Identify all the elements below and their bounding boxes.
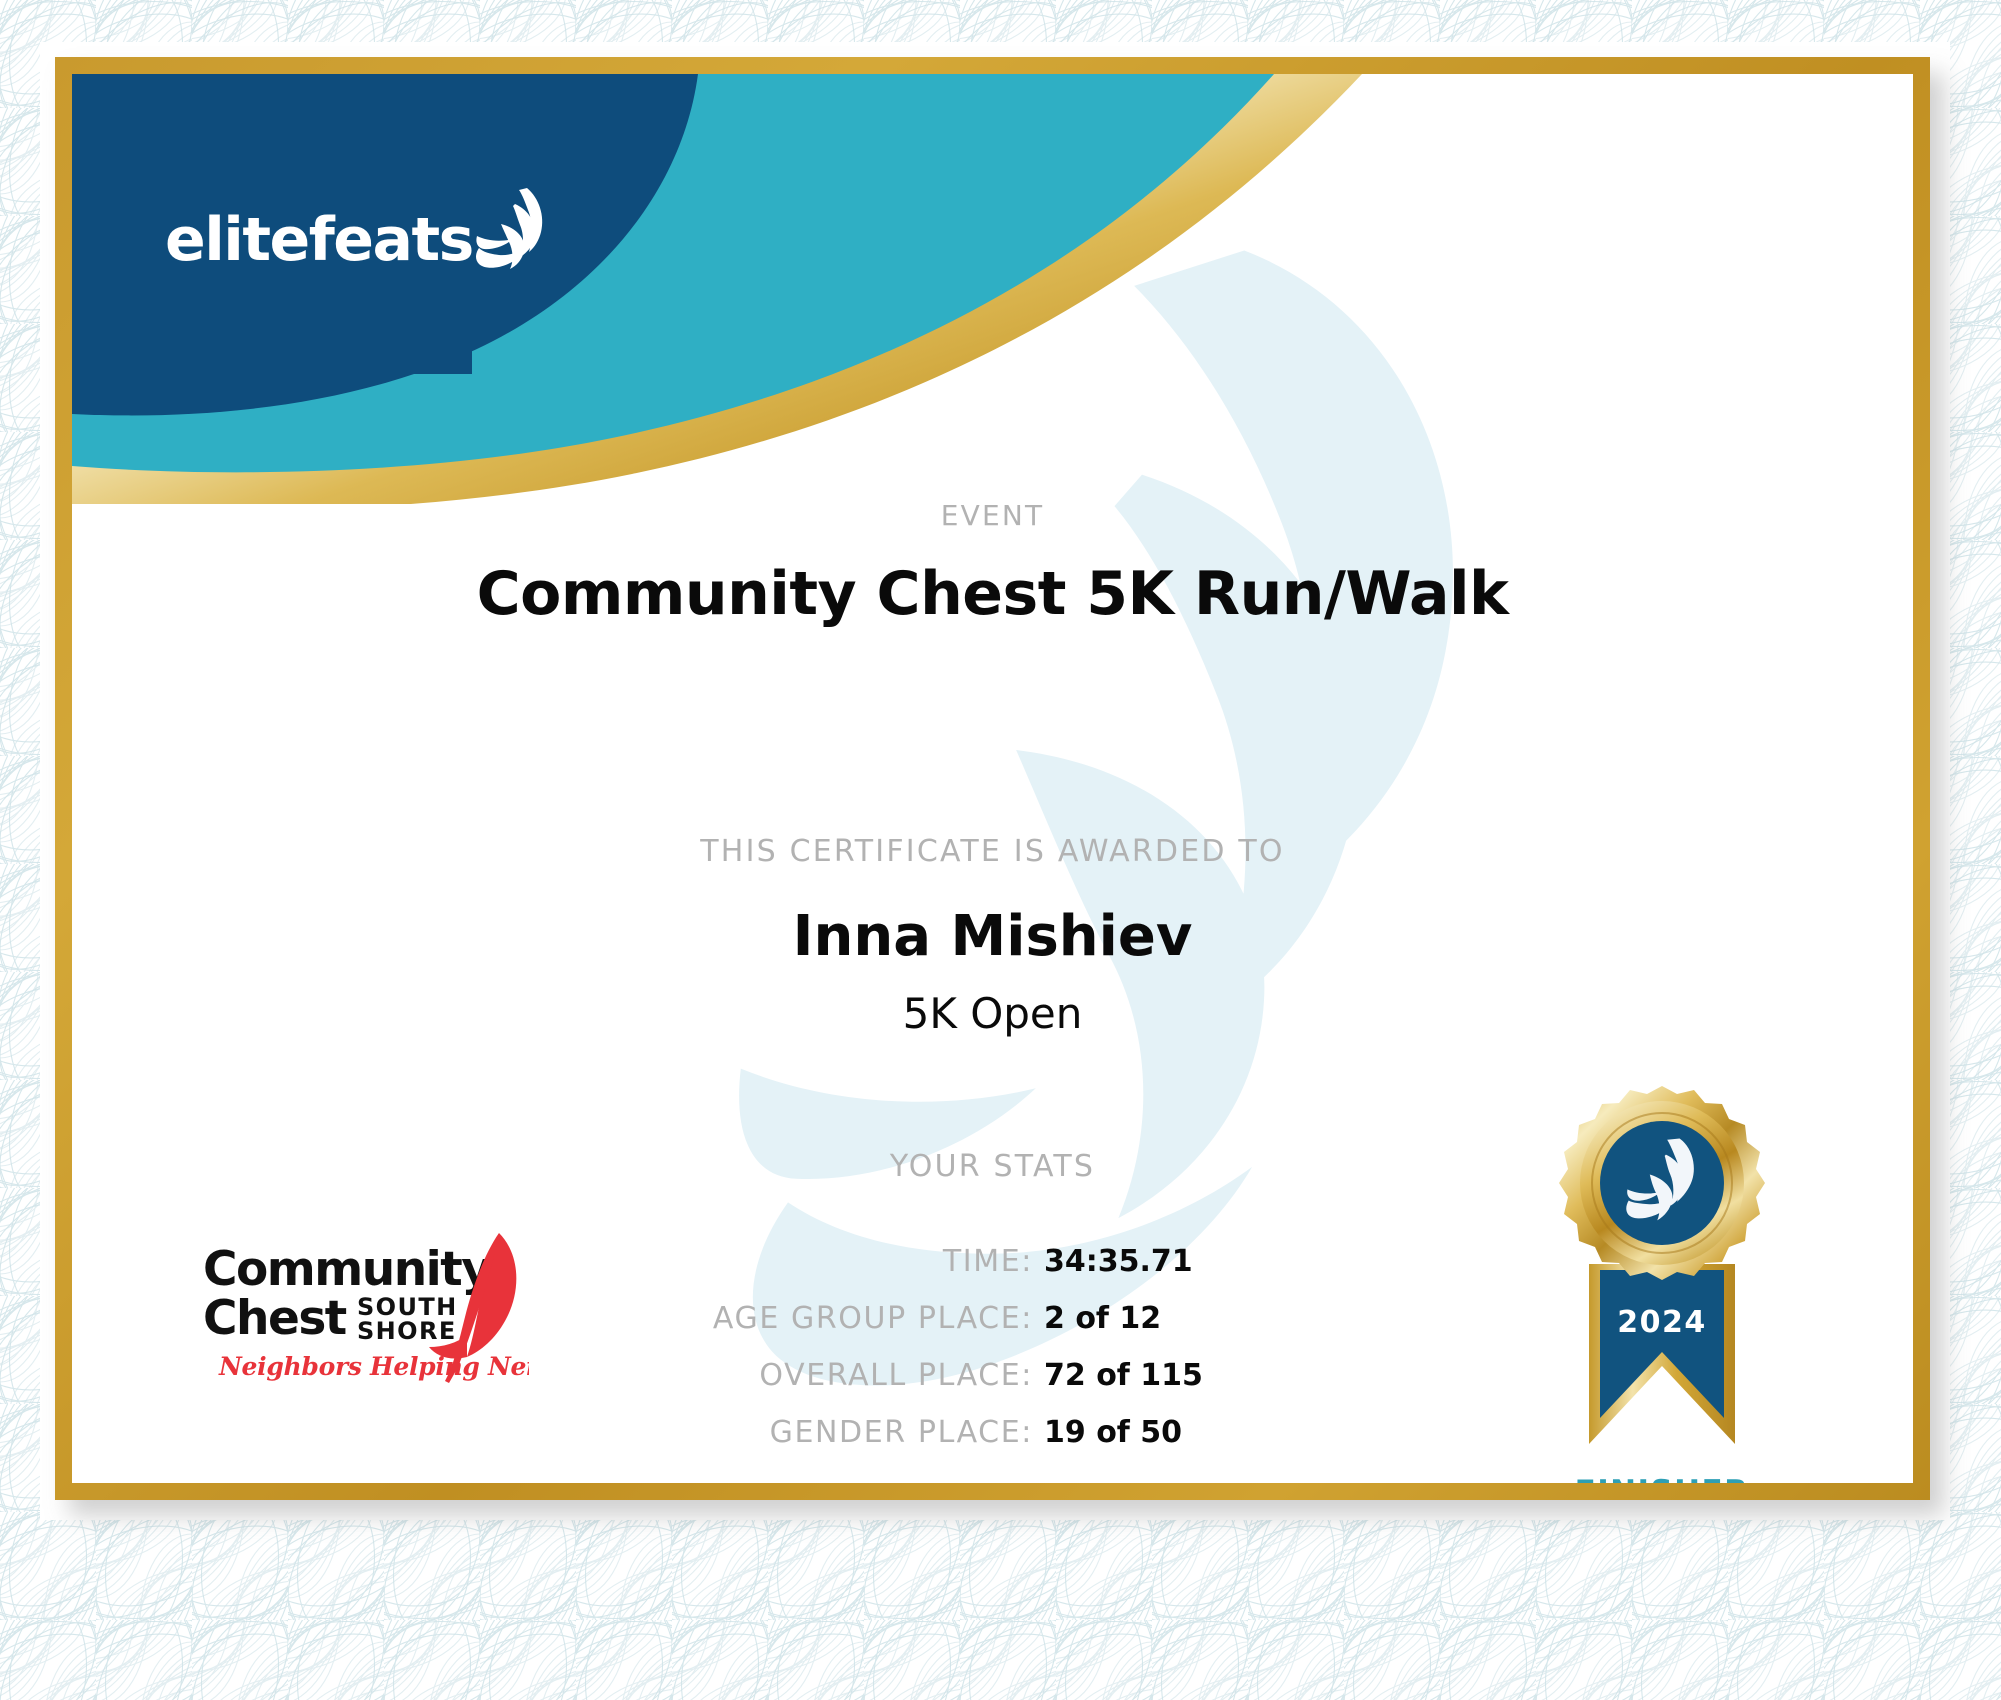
medal-ribbon — [1589, 1264, 1735, 1444]
sponsor-tagline: Neighbors Helping Neighbors — [218, 1352, 529, 1381]
medal-year: 2024 — [1617, 1305, 1707, 1340]
stats-list: TIME: 34:35.71 AGE GROUP PLACE: 2 of 12 … — [592, 1244, 1212, 1472]
stat-value: 34:35.71 — [1044, 1244, 1212, 1279]
stat-key: GENDER PLACE: — [770, 1415, 1033, 1450]
stat-row-time: TIME: 34:35.71 — [592, 1244, 1212, 1279]
winged-foot-icon — [475, 184, 553, 270]
stat-value: 72 of 115 — [1044, 1358, 1212, 1393]
stat-key: OVERALL PLACE: — [759, 1358, 1033, 1393]
finisher-medal-badge: 2024 — [1507, 1074, 1817, 1474]
recipient-name: Inna Mishiev — [72, 904, 1913, 969]
stat-row-gender-place: GENDER PLACE: 19 of 50 — [592, 1415, 1212, 1450]
sponsor-line2: Chest — [203, 1291, 347, 1346]
stat-row-overall-place: OVERALL PLACE: 72 of 115 — [592, 1358, 1212, 1393]
gold-frame: elitefeats EVENT Community Chest 5K Run/… — [55, 57, 1930, 1500]
stat-row-age-group-place: AGE GROUP PLACE: 2 of 12 — [592, 1301, 1212, 1336]
stat-key: TIME: — [943, 1244, 1033, 1279]
certificate-content: EVENT Community Chest 5K Run/Walk THIS C… — [72, 74, 1913, 1483]
event-label: EVENT — [72, 499, 1913, 532]
stat-value: 2 of 12 — [1044, 1301, 1212, 1336]
elitefeats-logo: elitefeats — [165, 184, 553, 270]
division-label: 5K Open — [72, 989, 1913, 1038]
medal-disc — [1559, 1086, 1765, 1280]
certificate-page: elitefeats EVENT Community Chest 5K Run/… — [0, 0, 2001, 1700]
finisher-caption: FINISHER CERTIFICATE — [1472, 1474, 1852, 1483]
finisher-caption-line1: FINISHER — [1472, 1474, 1852, 1483]
stat-key: AGE GROUP PLACE: — [713, 1301, 1033, 1336]
sponsor-sub2: SHORE — [357, 1317, 457, 1345]
sponsor-line1: Community — [203, 1242, 491, 1297]
elitefeats-wordmark: elitefeats — [165, 210, 473, 270]
stat-value: 19 of 50 — [1044, 1415, 1212, 1450]
community-chest-sponsor-logo: Community Chest SOUTH SHORE Neighbors He… — [199, 1229, 529, 1404]
certificate-body: elitefeats EVENT Community Chest 5K Run/… — [72, 74, 1913, 1483]
awarded-to-label: THIS CERTIFICATE IS AWARDED TO — [72, 834, 1913, 869]
event-title: Community Chest 5K Run/Walk — [72, 559, 1913, 629]
